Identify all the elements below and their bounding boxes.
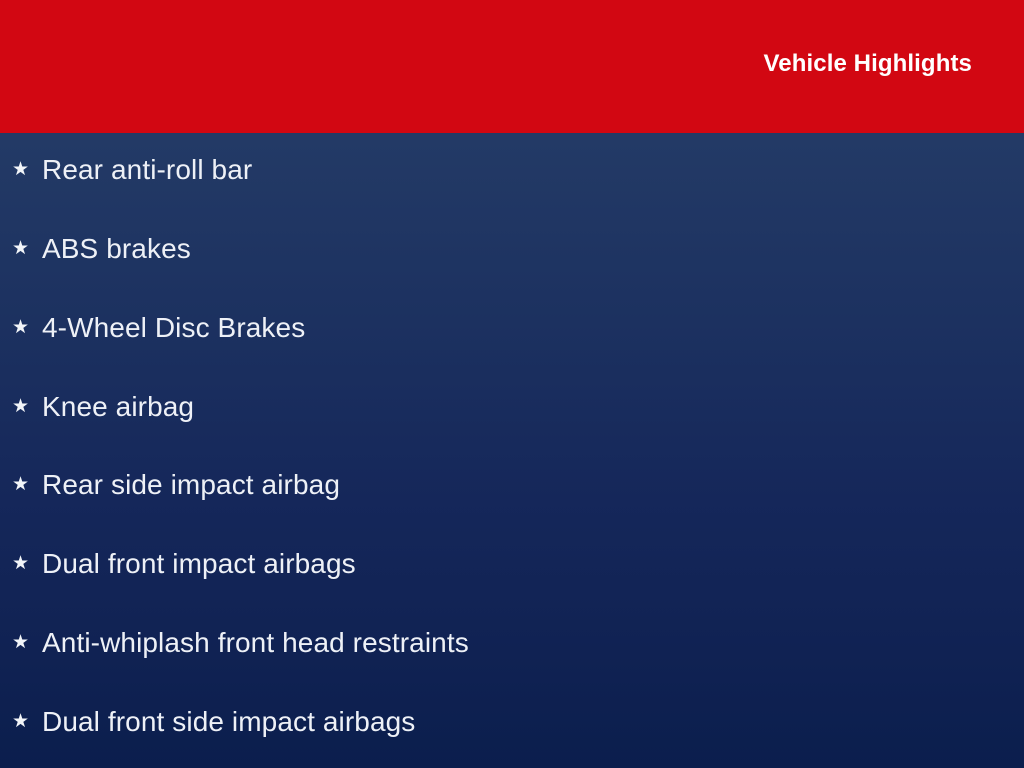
list-item: ★ Knee airbag <box>12 388 194 426</box>
list-item-label: Rear side impact airbag <box>42 466 340 504</box>
star-icon: ★ <box>12 712 42 731</box>
list-item-label: 4-Wheel Disc Brakes <box>42 309 305 347</box>
page-title: Vehicle Highlights <box>763 49 972 79</box>
star-icon: ★ <box>12 397 42 416</box>
list-item-label: Rear anti-roll bar <box>42 151 252 189</box>
list-item: ★ 4-Wheel Disc Brakes <box>12 309 305 347</box>
star-icon: ★ <box>12 633 42 652</box>
list-item-label: Dual front side impact airbags <box>42 703 415 741</box>
star-icon: ★ <box>12 318 42 337</box>
list-item: ★ Rear side impact airbag <box>12 466 340 504</box>
star-icon: ★ <box>12 160 42 179</box>
list-item: ★ Rear anti-roll bar <box>12 151 252 189</box>
list-item-label: ABS brakes <box>42 230 191 268</box>
slide-header-band: Vehicle Highlights <box>0 0 1024 133</box>
list-item-label: Anti-whiplash front head restraints <box>42 624 469 662</box>
star-icon: ★ <box>12 239 42 258</box>
list-item-label: Dual front impact airbags <box>42 545 356 583</box>
list-item: ★ ABS brakes <box>12 230 191 268</box>
vehicle-highlights-list: ★ Rear anti-roll bar ★ ABS brakes ★ 4-Wh… <box>0 133 1024 768</box>
presentation-slide: Vehicle Highlights ★ Rear anti-roll bar … <box>0 0 1024 768</box>
list-item: ★ Anti-whiplash front head restraints <box>12 624 469 662</box>
list-item: ★ Dual front side impact airbags <box>12 703 415 741</box>
list-item-label: Knee airbag <box>42 388 194 426</box>
star-icon: ★ <box>12 554 42 573</box>
star-icon: ★ <box>12 475 42 494</box>
list-item: ★ Dual front impact airbags <box>12 545 356 583</box>
